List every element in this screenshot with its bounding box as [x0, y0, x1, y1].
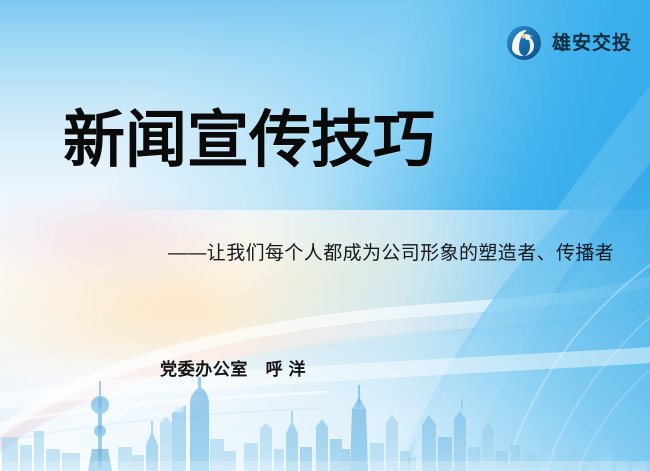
company-logo-text: 雄安交投: [552, 34, 632, 53]
slide-title: 新闻宣传技巧: [63, 108, 435, 175]
presenter-line: 党委办公室 呼 洋: [160, 355, 306, 380]
company-logo: 雄安交投: [505, 24, 632, 62]
xiongan-jiaotou-emblem-icon: [505, 24, 543, 62]
presentation-slide: 雄安交投 新闻宣传技巧 ——让我们每个人都成为公司形象的塑造者、传播者 党委办公…: [0, 0, 650, 471]
slide-subtitle: ——让我们每个人都成为公司形象的塑造者、传播者: [168, 238, 614, 265]
